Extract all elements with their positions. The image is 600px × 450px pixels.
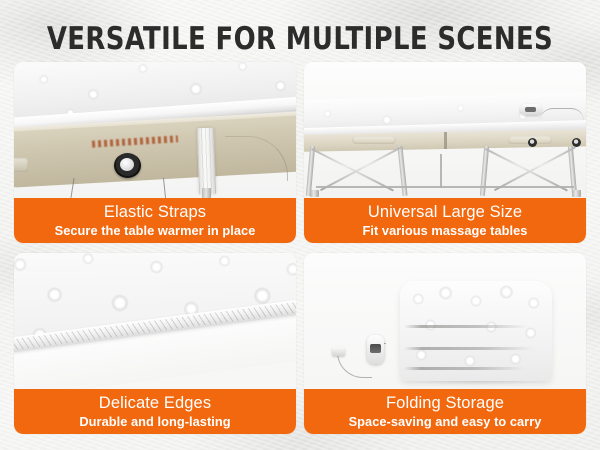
- blanket-controller: [367, 335, 384, 364]
- table-cross-brace: [320, 146, 402, 191]
- caption-subtitle: Space-saving and easy to carry: [349, 414, 542, 429]
- caption-subtitle: Secure the table warmer in place: [55, 223, 256, 238]
- elastic-strap-texture: [197, 128, 216, 195]
- photo-delicate-edges: [14, 253, 296, 389]
- blanket-fold-line: [404, 347, 534, 350]
- photo-universal-large-size: [304, 62, 586, 198]
- page-title: VERSATILE FOR MULTIPLE SCENES: [21, 22, 579, 56]
- table-cross-brace: [494, 146, 576, 191]
- table-leg: [568, 146, 577, 196]
- table-grommet-hole: [114, 153, 141, 178]
- table-leg: [397, 146, 407, 196]
- table-leg-assembly: [304, 146, 586, 198]
- feature-card-elastic-straps: Elastic Straps Secure the table warmer i…: [14, 62, 296, 243]
- table-handle-left: [352, 136, 396, 144]
- illustration-table-corner: [14, 62, 296, 198]
- caption-subtitle: Durable and long-lasting: [79, 414, 230, 429]
- caption-delicate-edges: Delicate Edges Durable and long-lasting: [14, 389, 296, 434]
- table-tension-cable: [316, 186, 574, 188]
- caption-universal-large-size: Universal Large Size Fit various massage…: [304, 198, 586, 243]
- table-leg: [306, 146, 315, 196]
- callout-line-right: [163, 178, 166, 198]
- caption-subtitle: Fit various massage tables: [363, 223, 528, 238]
- feature-grid: Elastic Straps Secure the table warmer i…: [14, 62, 586, 434]
- table-leg: [202, 188, 211, 198]
- table-center-support: [440, 154, 442, 188]
- table-foot: [572, 190, 581, 197]
- power-plug: [332, 347, 345, 356]
- table-foot: [310, 190, 319, 197]
- caption-elastic-straps: Elastic Straps Secure the table warmer i…: [14, 198, 296, 243]
- photo-folding-storage: [304, 253, 586, 389]
- blanket-fold-line: [404, 367, 524, 370]
- warmer-controller: [520, 104, 542, 115]
- caption-folding-storage: Folding Storage Space-saving and easy to…: [304, 389, 586, 434]
- caption-title: Universal Large Size: [368, 203, 522, 222]
- illustration-fleece-edge: [14, 253, 296, 389]
- photo-elastic-straps: [14, 62, 296, 198]
- controller-wire: [540, 108, 584, 121]
- table-leg: [480, 146, 489, 196]
- caption-title: Elastic Straps: [104, 203, 206, 222]
- infographic-page: VERSATILE FOR MULTIPLE SCENES: [0, 0, 600, 450]
- feature-card-delicate-edges: Delicate Edges Durable and long-lasting: [14, 253, 296, 434]
- folded-blanket: [400, 281, 552, 381]
- caption-title: Delicate Edges: [99, 394, 211, 413]
- illustration-full-table: [304, 62, 586, 198]
- table-side-knob: [14, 158, 28, 172]
- illustration-folded-blanket: [304, 253, 586, 389]
- blanket-fold-line: [404, 325, 528, 328]
- caption-title: Folding Storage: [386, 394, 504, 413]
- feature-card-folding-storage: Folding Storage Space-saving and easy to…: [304, 253, 586, 434]
- feature-card-universal-large-size: Universal Large Size Fit various massage…: [304, 62, 586, 243]
